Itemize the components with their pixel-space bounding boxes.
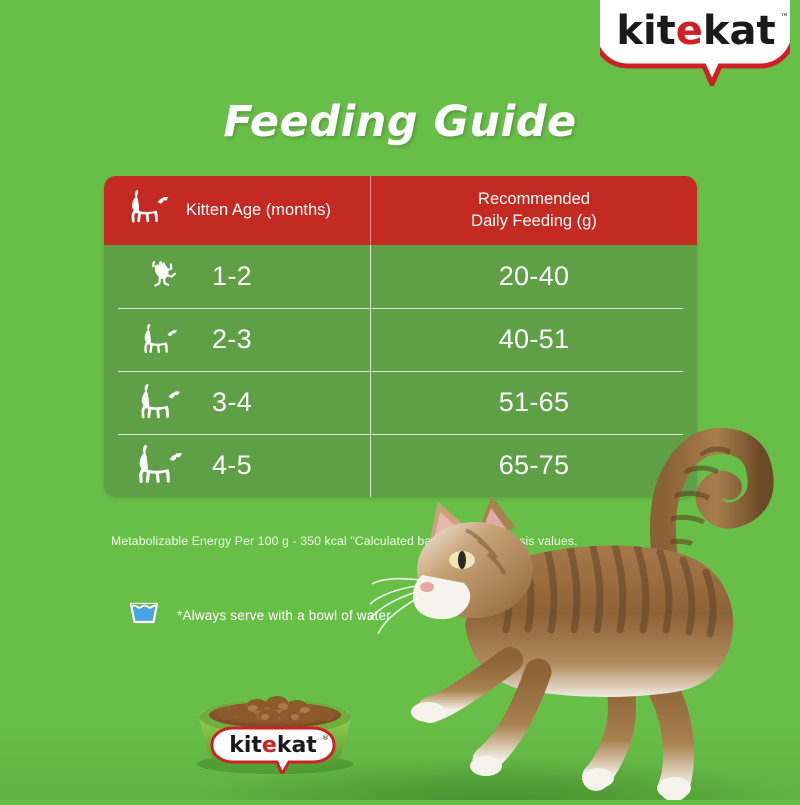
kitten-silhouette-icon xyxy=(124,259,198,295)
cat-silhouette-icon xyxy=(124,189,172,232)
row-age-value: 2-3 xyxy=(212,324,252,355)
logo-text: kitekat xyxy=(616,8,775,54)
header-label-amount-line1: Recommended xyxy=(478,190,590,208)
table-row: 2-3 40-51 xyxy=(104,308,697,371)
adult-cat-silhouette-icon xyxy=(124,443,198,489)
row-amount-value: 40-51 xyxy=(499,324,570,355)
water-note-text: *Always serve with a bowl of water xyxy=(177,608,391,623)
walking-tabby-cat-photo xyxy=(370,410,800,800)
row-cell-age: 3-4 xyxy=(104,371,370,434)
cat-rear-legs xyxy=(582,680,691,799)
row-age-value: 1-2 xyxy=(212,261,252,292)
table-row: 1-2 20-40 xyxy=(104,245,697,308)
row-cell-age: 2-3 xyxy=(104,308,370,371)
young-cat-silhouette-icon xyxy=(124,322,198,358)
header-label-amount-line2: Daily Feeding (g) xyxy=(471,212,597,230)
row-cell-age: 1-2 xyxy=(104,245,370,308)
header-label-age: Kitten Age (months) xyxy=(186,200,331,222)
water-bowl-icon xyxy=(127,600,161,631)
bowl-logo-text: kitekat xyxy=(229,733,317,758)
row-amount-value: 20-40 xyxy=(499,261,570,292)
row-cell-amount: 20-40 xyxy=(370,245,697,308)
page-title: Feeding Guide xyxy=(0,97,800,147)
cat-silhouette-icon xyxy=(124,382,198,424)
row-cell-amount: 40-51 xyxy=(370,308,697,371)
row-age-value: 4-5 xyxy=(212,450,252,481)
row-age-value: 3-4 xyxy=(212,387,252,418)
water-note-row: *Always serve with a bowl of water xyxy=(127,600,391,631)
table-header-row: Kitten Age (months) Recommended Daily Fe… xyxy=(104,176,697,245)
cat-food-bowl-with-kibble: kitekat ® xyxy=(185,684,365,774)
header-cell-amount: Recommended Daily Feeding (g) xyxy=(370,176,697,245)
header-cell-age: Kitten Age (months) xyxy=(104,189,370,232)
row-cell-age: 4-5 xyxy=(104,434,370,497)
bowl-trademark-symbol: ® xyxy=(322,734,329,742)
trademark-symbol: ™ xyxy=(780,13,789,23)
brand-logo: kitekat ™ xyxy=(600,0,790,86)
